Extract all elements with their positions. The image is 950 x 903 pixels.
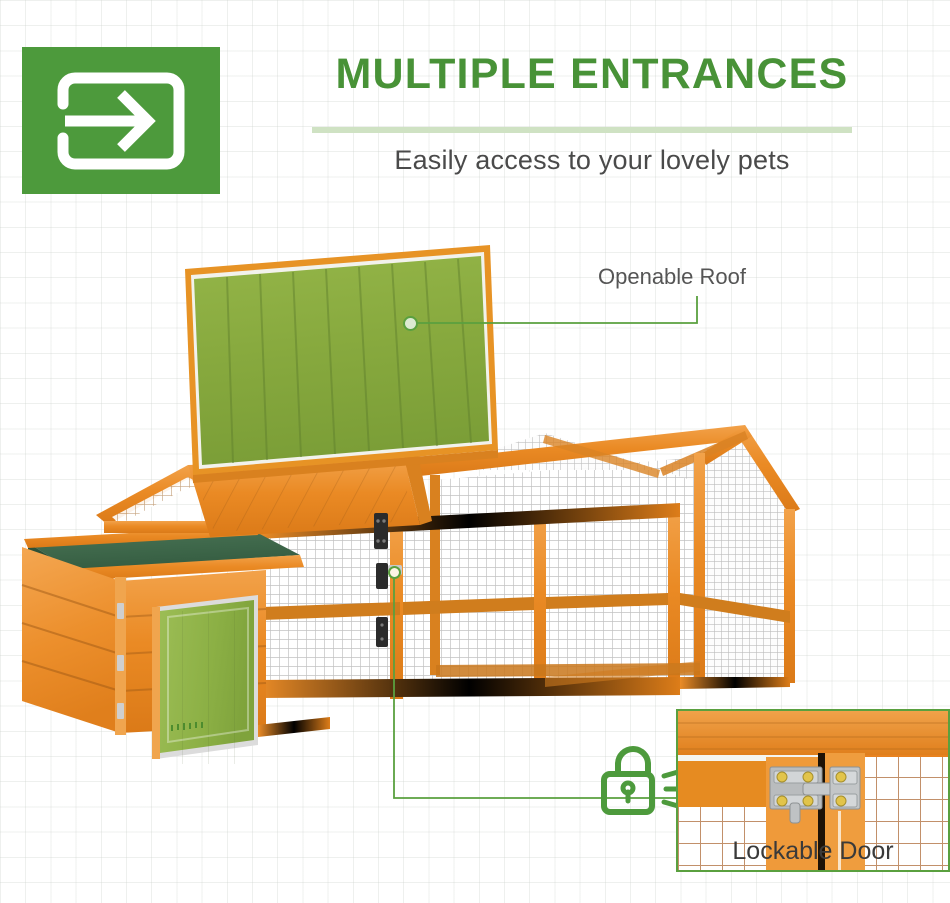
- lockable-door-inset: Lockable Door: [676, 709, 950, 872]
- run-post-rear-left: [430, 475, 440, 675]
- page-subtitle: Easily access to your lovely pets: [292, 145, 892, 176]
- run-post-right: [668, 505, 680, 689]
- enter-arrow-icon: [49, 66, 193, 176]
- feature-badge: [22, 47, 220, 194]
- hutch-to-run-rail: [258, 717, 330, 737]
- infographic-canvas: MULTIPLE ENTRANCES Easily access to your…: [0, 0, 950, 903]
- hutch-green-side-door: [152, 595, 258, 764]
- product-illustration: [0, 225, 950, 785]
- run-post-far-right: [784, 509, 795, 683]
- page-title: MULTIPLE ENTRANCES: [312, 52, 872, 97]
- run-right-bottom-rail: [680, 677, 790, 689]
- openable-roof-panel: [185, 245, 498, 483]
- door-hinge-mid: [376, 563, 388, 589]
- door-hinge-bottom: [376, 617, 388, 647]
- run-bottom-rail-front: [258, 677, 680, 698]
- latch-handle: [790, 803, 800, 823]
- title-divider: [312, 127, 852, 133]
- lockable-door-marker: [388, 566, 401, 579]
- openable-roof-label: Openable Roof: [598, 264, 746, 290]
- hutch-hinge-top: [117, 603, 124, 619]
- openable-roof-marker: [403, 316, 418, 331]
- open-padlock-icon: [596, 742, 686, 820]
- inset-label: Lockable Door: [678, 837, 948, 866]
- hutch-hinge-mid: [117, 655, 124, 671]
- door-hinge-top: [374, 513, 388, 549]
- hutch-hinge-bottom: [117, 703, 124, 719]
- run-post-rear-right: [694, 453, 705, 681]
